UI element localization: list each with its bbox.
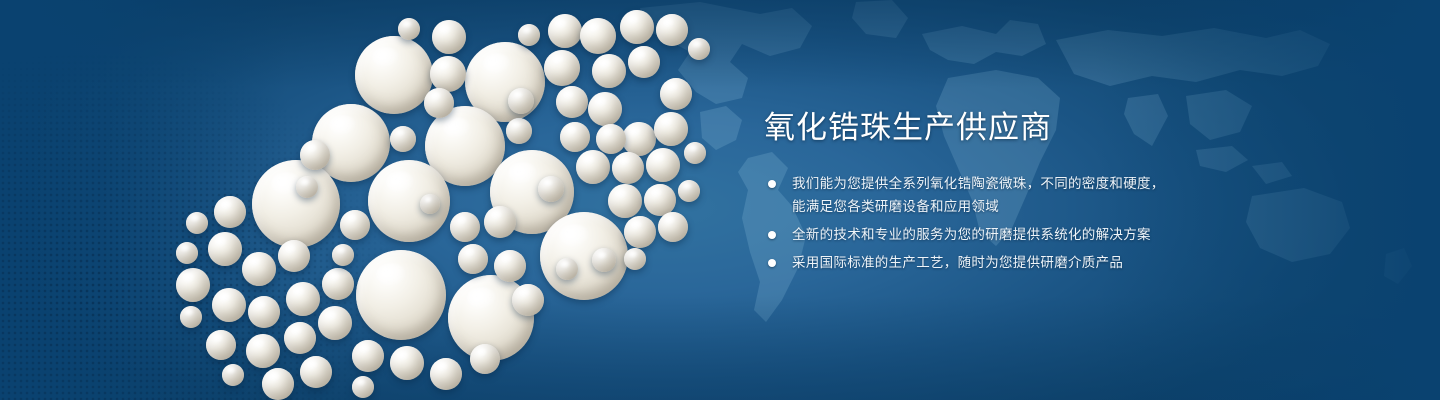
bead-small xyxy=(332,244,354,266)
bead-small xyxy=(684,142,706,164)
bead-medium xyxy=(458,244,488,274)
bead-medium xyxy=(596,124,626,154)
bead-small xyxy=(592,248,616,272)
bead-medium xyxy=(580,18,616,54)
bead-medium xyxy=(176,268,210,302)
bead-medium xyxy=(284,322,316,354)
bead-medium xyxy=(248,296,280,328)
bead-medium xyxy=(246,334,280,368)
bead-medium xyxy=(318,306,352,340)
zirconia-bead-cluster-image xyxy=(0,0,720,400)
bead-medium xyxy=(624,216,656,248)
bullet-dot-icon xyxy=(768,180,776,188)
bead-medium xyxy=(212,288,246,322)
bead-medium xyxy=(450,212,480,242)
bead-medium xyxy=(430,56,466,92)
bead-medium xyxy=(470,344,500,374)
bead-small xyxy=(186,212,208,234)
bead-medium xyxy=(286,282,320,316)
bead-medium xyxy=(432,20,466,54)
bead-small xyxy=(556,258,578,280)
bead-medium xyxy=(484,206,516,238)
bead-medium xyxy=(576,150,610,184)
bead-medium xyxy=(544,50,580,86)
bead-medium xyxy=(620,10,654,44)
bead-medium xyxy=(206,330,236,360)
bead-medium xyxy=(548,14,582,48)
bullet-line: 采用国际标准的生产工艺，随时为您提供研磨介质产品 xyxy=(792,251,1224,274)
bead-medium xyxy=(242,252,276,286)
bead-medium xyxy=(588,92,622,126)
banner-copy: 氧化锆珠生产供应商 我们能为您提供全系列氧化锆陶瓷微珠，不同的密度和硬度， 能满… xyxy=(764,108,1224,279)
bead-medium xyxy=(424,88,454,118)
bead-medium xyxy=(538,176,564,202)
bead-medium xyxy=(560,122,590,152)
bead-medium xyxy=(656,14,688,46)
page-title: 氧化锆珠生产供应商 xyxy=(764,108,1224,148)
bead-medium xyxy=(592,54,626,88)
bead-medium xyxy=(430,358,462,390)
bead-medium xyxy=(556,86,588,118)
bead-small xyxy=(688,38,710,60)
bead-small xyxy=(624,248,646,270)
bead-small xyxy=(518,24,540,46)
bead-medium xyxy=(612,152,644,184)
bead-medium xyxy=(322,268,354,300)
bead-small xyxy=(678,180,700,202)
bead-medium xyxy=(352,340,384,372)
bead-small xyxy=(222,364,244,386)
bead-large xyxy=(355,36,433,114)
bead-medium xyxy=(658,212,688,242)
bead-medium xyxy=(390,126,416,152)
bead-medium xyxy=(508,88,534,114)
bead-medium xyxy=(654,112,688,146)
bead-medium xyxy=(660,78,692,110)
bead-small xyxy=(296,176,318,198)
feature-bullet-list: 我们能为您提供全系列氧化锆陶瓷微珠，不同的密度和硬度， 能满足您各类研磨设备和应… xyxy=(764,172,1224,274)
list-item: 我们能为您提供全系列氧化锆陶瓷微珠，不同的密度和硬度， 能满足您各类研磨设备和应… xyxy=(764,172,1224,218)
bead-small xyxy=(176,242,198,264)
bullet-line: 能满足您各类研磨设备和应用领域 xyxy=(792,195,1224,218)
bullet-line: 全新的技术和专业的服务为您的研磨提供系统化的解决方案 xyxy=(792,223,1224,246)
bead-medium xyxy=(300,140,330,170)
bead-medium xyxy=(628,46,660,78)
bullet-line: 我们能为您提供全系列氧化锆陶瓷微珠，不同的密度和硬度， xyxy=(792,172,1224,195)
hero-banner: 氧化锆珠生产供应商 我们能为您提供全系列氧化锆陶瓷微珠，不同的密度和硬度， 能满… xyxy=(0,0,1440,400)
bead-small xyxy=(352,376,374,398)
bead-medium xyxy=(390,346,424,380)
bead-medium xyxy=(512,284,544,316)
bead-medium xyxy=(646,148,680,182)
bead-large xyxy=(252,160,340,248)
bullet-dot-icon xyxy=(768,259,776,267)
bead-medium xyxy=(494,250,526,282)
bead-medium xyxy=(278,240,310,272)
bead-medium xyxy=(214,196,246,228)
list-item: 全新的技术和专业的服务为您的研磨提供系统化的解决方案 xyxy=(764,223,1224,246)
bead-medium xyxy=(506,118,532,144)
bead-medium xyxy=(262,368,294,400)
bead-medium xyxy=(608,184,642,218)
bead-small xyxy=(398,18,420,40)
bead-small xyxy=(180,306,202,328)
bead-large xyxy=(356,250,446,340)
bead-medium xyxy=(622,122,656,156)
bead-medium xyxy=(340,210,370,240)
bead-medium xyxy=(208,232,242,266)
bead-medium xyxy=(300,356,332,388)
list-item: 采用国际标准的生产工艺，随时为您提供研磨介质产品 xyxy=(764,251,1224,274)
bead-small xyxy=(420,194,440,214)
bullet-dot-icon xyxy=(768,231,776,239)
